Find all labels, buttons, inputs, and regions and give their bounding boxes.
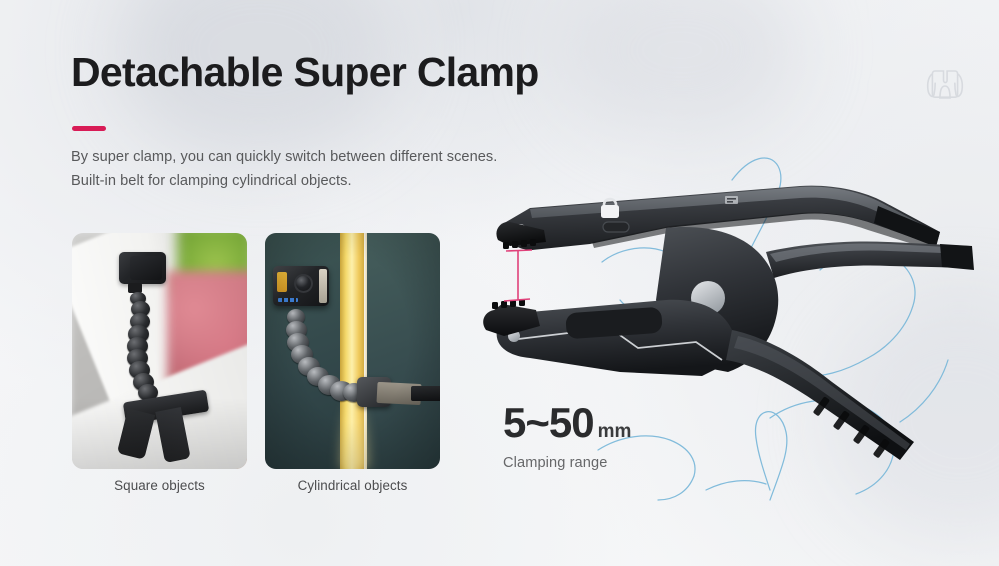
photo-vignette	[265, 233, 440, 469]
clamp-bottom-arm	[483, 299, 742, 376]
clamping-range-label: Clamping range	[503, 455, 631, 471]
page-title: Detachable Super Clamp	[71, 50, 539, 96]
clamping-range-indicator	[504, 250, 532, 301]
clamping-range-spec: 5~50 mm Clamping range	[503, 402, 631, 471]
clamp-logo-icon	[922, 58, 968, 106]
gallery-image-square[interactable]	[72, 233, 247, 469]
photo-action-camera	[119, 252, 166, 284]
clamping-range-value-row: 5~50 mm	[503, 402, 631, 444]
gallery-caption-square: Square objects	[72, 478, 247, 493]
product-banner: Detachable Super Clamp By super clamp, y…	[0, 0, 999, 566]
accent-divider	[72, 126, 106, 131]
clamp-body-marking	[725, 196, 738, 204]
background-blob-2	[560, 0, 800, 140]
clamp-upper-handle-cap	[940, 244, 974, 270]
clamping-range-value: 5~50	[503, 402, 594, 444]
photo-vignette	[72, 398, 247, 469]
page-subtitle: By super clamp, you can quickly switch b…	[71, 146, 497, 193]
clamping-range-unit: mm	[598, 422, 632, 441]
gallery-image-cylindrical[interactable]	[265, 233, 440, 469]
gallery-caption-cylindrical: Cylindrical objects	[265, 478, 440, 493]
